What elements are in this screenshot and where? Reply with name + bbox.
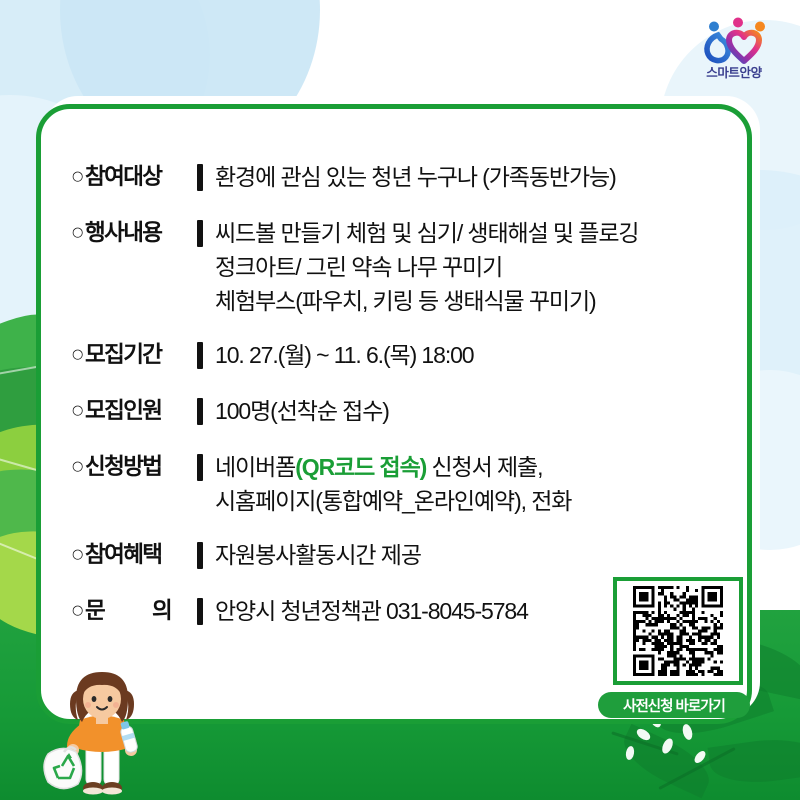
- pre-apply-button-label: 사전신청 바로가기: [623, 695, 725, 716]
- logo-dot-blue: [709, 22, 719, 32]
- plain-text: 10. 27.(월) ~ 11. 6.(목) 18:00: [215, 342, 474, 368]
- info-row-label: 문 의: [85, 594, 193, 628]
- info-row-value: 100명(선착순 접수): [215, 394, 389, 428]
- row-divider: [197, 542, 203, 569]
- info-row-line: 시홈페이지(통합예약_온라인예약), 전화: [215, 484, 571, 518]
- bullet-icon: ○: [72, 450, 85, 484]
- info-row: ○모집기간10. 27.(월) ~ 11. 6.(목) 18:00: [72, 338, 772, 372]
- info-row: ○모집인원100명(선착순 접수): [72, 394, 772, 428]
- info-row-line: 정크아트/ 그린 약속 나무 꾸미기: [215, 250, 638, 284]
- info-row-line: 씨드볼 만들기 체험 및 심기/ 생태해설 및 플로깅: [215, 216, 638, 250]
- logo-text: 스마트안양: [688, 67, 780, 80]
- info-row: ○신청방법네이버폼(QR코드 접속) 신청서 제출,시홈페이지(통합예약_온라인…: [72, 450, 772, 518]
- plain-text: 네이버폼: [215, 454, 295, 480]
- bullet-icon: ○: [72, 594, 85, 628]
- info-row-line: 100명(선착순 접수): [215, 394, 389, 428]
- info-rows: ○참여대상환경에 관심 있는 청년 누구나 (가족동반가능)○행사내용씨드볼 만…: [72, 160, 772, 628]
- info-row: ○참여대상환경에 관심 있는 청년 누구나 (가족동반가능): [72, 160, 772, 194]
- logo-dot-orange: [755, 22, 765, 32]
- row-divider: [197, 342, 203, 369]
- plain-text: 체험부스(파우치, 키링 등 생태식물 꾸미기): [215, 288, 596, 314]
- info-row-line: 10. 27.(월) ~ 11. 6.(목) 18:00: [215, 338, 474, 372]
- info-row-label: 모집기간: [85, 338, 193, 372]
- info-row-value: 환경에 관심 있는 청년 누구나 (가족동반가능): [215, 160, 616, 194]
- qr-code-image: [622, 586, 734, 676]
- bullet-icon: ○: [72, 338, 85, 372]
- bullet-icon: ○: [72, 394, 85, 428]
- row-divider: [197, 164, 203, 191]
- qr-code[interactable]: [613, 577, 743, 685]
- logo-dot-pink: [733, 18, 743, 28]
- info-row-line: 환경에 관심 있는 청년 누구나 (가족동반가능): [215, 160, 616, 194]
- bullet-icon: ○: [72, 538, 85, 572]
- info-row-line: 체험부스(파우치, 키링 등 생태식물 꾸미기): [215, 284, 638, 318]
- plain-text: 100명(선착순 접수): [215, 398, 389, 424]
- girl-with-recycling-bag-illustration: [36, 668, 168, 796]
- info-row-label: 참여혜택: [85, 538, 193, 572]
- bullet-icon: ○: [72, 216, 85, 250]
- highlighted-text: (QR코드 접속): [295, 454, 426, 480]
- plain-text: 신청서 제출,: [426, 454, 542, 480]
- pre-apply-button[interactable]: 사전신청 바로가기: [598, 692, 750, 718]
- info-row-value: 자원봉사활동시간 제공: [215, 538, 421, 572]
- plain-text: 시홈페이지(통합예약_온라인예약), 전화: [215, 488, 571, 514]
- info-row-label: 참여대상: [85, 160, 193, 194]
- plain-text: 환경에 관심 있는 청년 누구나 (가족동반가능): [215, 164, 616, 190]
- plain-text: 정크아트/ 그린 약속 나무 꾸미기: [215, 254, 502, 280]
- info-row-line: 자원봉사활동시간 제공: [215, 538, 421, 572]
- row-divider: [197, 598, 203, 625]
- info-row-label: 행사내용: [85, 216, 193, 250]
- info-row-value: 안양시 청년정책관 031-8045-5784: [215, 594, 528, 628]
- smart-anyang-heart-logo-icon: [688, 16, 780, 66]
- info-row-label: 신청방법: [85, 450, 193, 484]
- poster-root: 스마트안양 ○참여대상환경에 관심 있는 청년 누구나 (가족동반가능)○행사내…: [0, 0, 800, 800]
- info-row-value: 10. 27.(월) ~ 11. 6.(목) 18:00: [215, 338, 474, 372]
- info-row-label: 모집인원: [85, 394, 193, 428]
- plain-text: 씨드볼 만들기 체험 및 심기/ 생태해설 및 플로깅: [215, 220, 638, 246]
- info-row: ○행사내용씨드볼 만들기 체험 및 심기/ 생태해설 및 플로깅정크아트/ 그린…: [72, 216, 772, 318]
- info-row-line: 안양시 청년정책관 031-8045-5784: [215, 594, 528, 628]
- info-row-value: 씨드볼 만들기 체험 및 심기/ 생태해설 및 플로깅정크아트/ 그린 약속 나…: [215, 216, 638, 318]
- plain-text: 자원봉사활동시간 제공: [215, 542, 421, 568]
- row-divider: [197, 398, 203, 425]
- bullet-icon: ○: [72, 160, 85, 194]
- row-divider: [197, 220, 203, 247]
- logo: 스마트안양: [688, 16, 780, 92]
- row-divider: [197, 454, 203, 481]
- info-row: ○참여혜택자원봉사활동시간 제공: [72, 538, 772, 572]
- plain-text: 안양시 청년정책관 031-8045-5784: [215, 598, 528, 624]
- info-row-line: 네이버폼(QR코드 접속) 신청서 제출,: [215, 450, 571, 484]
- info-row-value: 네이버폼(QR코드 접속) 신청서 제출,시홈페이지(통합예약_온라인예약), …: [215, 450, 571, 518]
